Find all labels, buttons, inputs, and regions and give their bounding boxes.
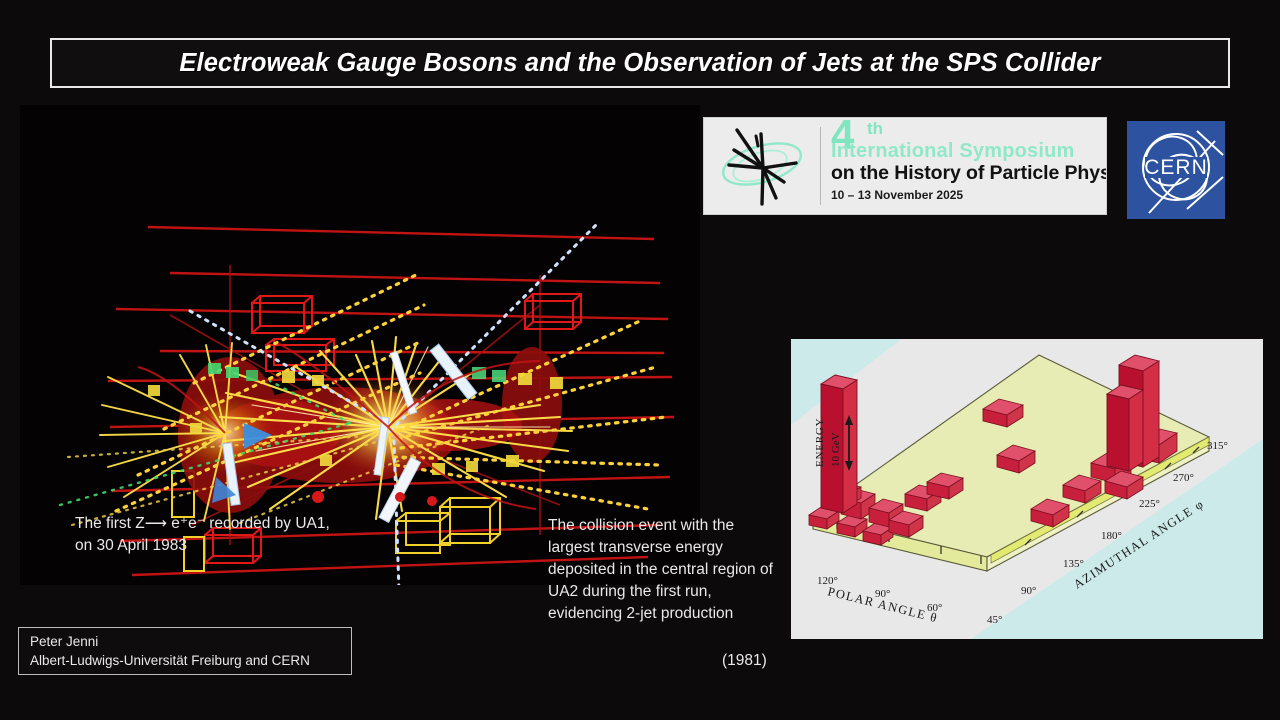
azimuthal-tick-2: 180° <box>1101 530 1122 542</box>
banner-text-block: 4 th International Symposium on the Hist… <box>821 118 1106 214</box>
slide-canvas: Electroweak Gauge Bosons and the Observa… <box>0 0 1280 720</box>
ua2-year-label: (1981) <box>722 652 767 670</box>
azimuthal-tick-4: 270° <box>1173 472 1194 484</box>
ua2-lego-plot-svg: ENERGY 10 GeV 120° 90° 60° 45° POLAR ANG… <box>791 339 1263 639</box>
cern-wordmark: CERN <box>1144 156 1208 179</box>
azimuthal-tick-0: 90° <box>1021 585 1036 597</box>
page-title: Electroweak Gauge Bosons and the Observa… <box>179 49 1100 78</box>
ua2-caption: The collision event with the largest tra… <box>548 515 783 625</box>
azimuthal-tick-5: 315° <box>1207 440 1228 452</box>
energy-axis-label: ENERGY <box>814 418 826 467</box>
banner-ordinal-suffix: th <box>867 119 883 139</box>
starburst-collision-icon <box>704 118 820 214</box>
azimuthal-tick-3: 225° <box>1139 498 1160 510</box>
energy-scale-label: 10 GeV <box>830 432 842 467</box>
ua2-lego-plot: ENERGY 10 GeV 120° 90° 60° 45° POLAR ANG… <box>791 339 1263 639</box>
banner-date-line: 10 – 13 November 2025 <box>831 188 963 202</box>
banner-symposium-line: International Symposium <box>831 140 1075 163</box>
ua1-caption-line-2: on 30 April 1983 <box>75 535 395 557</box>
symposium-logo <box>704 118 820 214</box>
azimuthal-tick-1: 135° <box>1063 558 1084 570</box>
ua1-caption-line-1: The first Z⟶ e⁺e⁻ recorded by UA1, <box>75 513 395 535</box>
ua1-caption: The first Z⟶ e⁺e⁻ recorded by UA1, on 30… <box>75 513 395 557</box>
slide-title-box: Electroweak Gauge Bosons and the Observa… <box>50 38 1230 88</box>
author-affiliation: Albert-Ludwigs-Universität Freiburg and … <box>30 652 340 671</box>
cern-accelerator-rings-icon: CERN <box>1127 121 1225 219</box>
banner-subject-line: on the History of Particle Physics <box>831 162 1106 185</box>
author-box: Peter Jenni Albert-Ludwigs-Universität F… <box>18 627 352 675</box>
lego-tower-jet2-secondary <box>1107 385 1143 471</box>
author-name: Peter Jenni <box>30 633 340 652</box>
polar-tick-3: 45° <box>987 614 1002 626</box>
cern-logo: CERN <box>1127 121 1225 219</box>
symposium-banner: 4 th International Symposium on the Hist… <box>703 117 1107 215</box>
